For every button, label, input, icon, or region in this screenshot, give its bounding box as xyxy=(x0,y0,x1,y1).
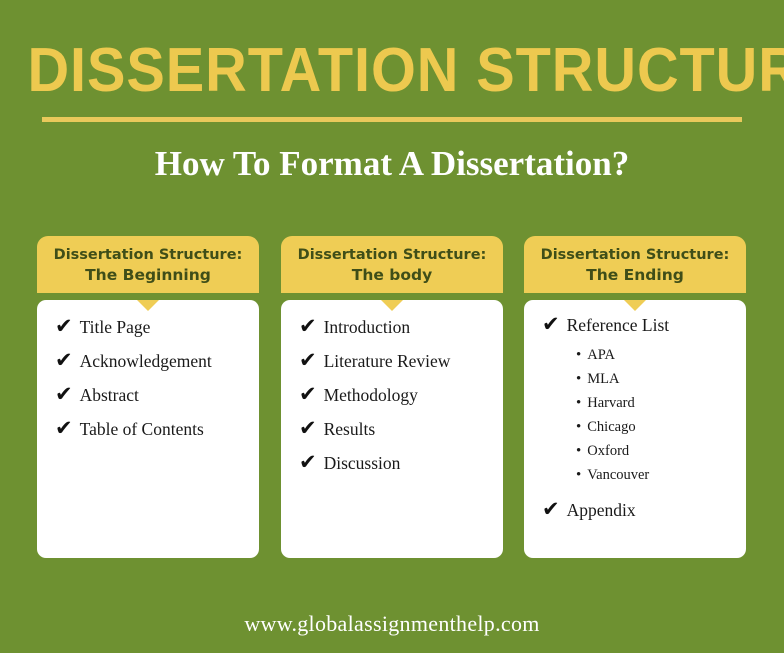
list-item: • Vancouver xyxy=(576,464,746,487)
poster-header: DISSERTATION STRUCTURE xyxy=(0,0,784,104)
list-item: ✔ Introduction xyxy=(281,312,503,341)
card-header-line-1: Dissertation Structure: xyxy=(530,245,740,265)
check-icon: ✔ xyxy=(55,414,73,442)
checklist: ✔ Introduction ✔ Literature Review ✔ Met… xyxy=(281,312,503,482)
card-body: ✔ Title Page ✔ Acknowledgement ✔ Abstrac… xyxy=(37,300,259,558)
title-divider xyxy=(42,117,742,122)
list-item-label: Results xyxy=(324,415,376,443)
bullet-icon: • xyxy=(576,440,581,463)
bullet-icon: • xyxy=(576,344,581,367)
check-icon: ✔ xyxy=(55,346,73,374)
card-body: ✔ Introduction ✔ Literature Review ✔ Met… xyxy=(281,300,503,558)
check-icon: ✔ xyxy=(299,346,317,374)
list-item-label: Abstract xyxy=(80,381,139,409)
list-item-label: Acknowledgement xyxy=(80,347,212,375)
list-item: • APA xyxy=(576,344,746,367)
check-icon: ✔ xyxy=(299,380,317,408)
card-the-body: ✔ Introduction ✔ Literature Review ✔ Met… xyxy=(281,236,503,558)
list-item: ✔ Table of Contents xyxy=(37,414,259,443)
check-icon: ✔ xyxy=(542,310,560,338)
card-header: Dissertation Structure: The Ending xyxy=(524,236,746,293)
header-notch-triangle xyxy=(624,300,646,311)
list-item: ✔ Title Page xyxy=(37,312,259,341)
infographic-poster: DISSERTATION STRUCTURE How To Format A D… xyxy=(0,0,784,653)
header-notch-triangle xyxy=(137,300,159,311)
checklist: ✔ Title Page ✔ Acknowledgement ✔ Abstrac… xyxy=(37,312,259,448)
page-title: DISSERTATION STRUCTURE xyxy=(27,0,756,104)
list-item: • Harvard xyxy=(576,392,746,415)
card-header: Dissertation Structure: The body xyxy=(281,236,503,293)
list-item: ✔ Acknowledgement xyxy=(37,346,259,375)
list-item-label: Chicago xyxy=(587,416,635,439)
page-subtitle: How To Format A Dissertation? xyxy=(0,142,784,186)
bullet-icon: • xyxy=(576,368,581,391)
check-icon: ✔ xyxy=(299,414,317,442)
list-item-label: Title Page xyxy=(80,313,151,341)
check-icon: ✔ xyxy=(55,312,73,340)
list-item: ✔ Results xyxy=(281,414,503,443)
list-item-label: Methodology xyxy=(324,381,418,409)
checklist: ✔ Reference List • APA • MLA xyxy=(524,310,746,529)
list-item: ✔ Literature Review xyxy=(281,346,503,375)
list-item-label: Vancouver xyxy=(587,464,649,487)
sub-list-container: • APA • MLA • Harvard xyxy=(524,344,746,487)
card-header-line-1: Dissertation Structure: xyxy=(287,245,497,265)
check-icon: ✔ xyxy=(299,448,317,476)
list-item: • Chicago xyxy=(576,416,746,439)
list-item: ✔ Reference List xyxy=(524,310,746,339)
reference-style-list: • APA • MLA • Harvard xyxy=(524,344,746,487)
list-item-label: Appendix xyxy=(567,496,636,524)
card-header-line-2: The Ending xyxy=(530,265,740,285)
bullet-icon: • xyxy=(576,464,581,487)
list-item-label: Table of Contents xyxy=(80,415,204,443)
list-item-label: MLA xyxy=(587,368,619,391)
card-header-line-1: Dissertation Structure: xyxy=(43,245,253,265)
list-item: ✔ Appendix xyxy=(524,495,746,524)
card-header-line-2: The body xyxy=(287,265,497,285)
list-item: • MLA xyxy=(576,368,746,391)
check-icon: ✔ xyxy=(299,312,317,340)
list-item: • Oxford xyxy=(576,440,746,463)
card-the-ending: ✔ Reference List • APA • MLA xyxy=(524,236,746,558)
list-item-label: Harvard xyxy=(587,392,635,415)
bullet-icon: • xyxy=(576,416,581,439)
list-item-label: APA xyxy=(587,344,615,367)
check-icon: ✔ xyxy=(55,380,73,408)
list-item: ✔ Discussion xyxy=(281,448,503,477)
list-item: ✔ Methodology xyxy=(281,380,503,409)
card-body: ✔ Reference List • APA • MLA xyxy=(524,300,746,558)
list-item-label: Reference List xyxy=(567,311,670,339)
bullet-icon: • xyxy=(576,392,581,415)
list-item-label: Literature Review xyxy=(324,347,451,375)
card-the-beginning: ✔ Title Page ✔ Acknowledgement ✔ Abstrac… xyxy=(37,236,259,558)
card-header-line-2: The Beginning xyxy=(43,265,253,285)
footer-website-url: www.globalassignmenthelp.com xyxy=(0,610,784,638)
header-notch-triangle xyxy=(381,300,403,311)
list-item: ✔ Abstract xyxy=(37,380,259,409)
list-item-label: Oxford xyxy=(587,440,629,463)
cards-row: ✔ Title Page ✔ Acknowledgement ✔ Abstrac… xyxy=(0,236,784,561)
list-item-label: Discussion xyxy=(324,449,401,477)
check-icon: ✔ xyxy=(542,495,560,523)
list-item-label: Introduction xyxy=(324,313,411,341)
card-header: Dissertation Structure: The Beginning xyxy=(37,236,259,293)
